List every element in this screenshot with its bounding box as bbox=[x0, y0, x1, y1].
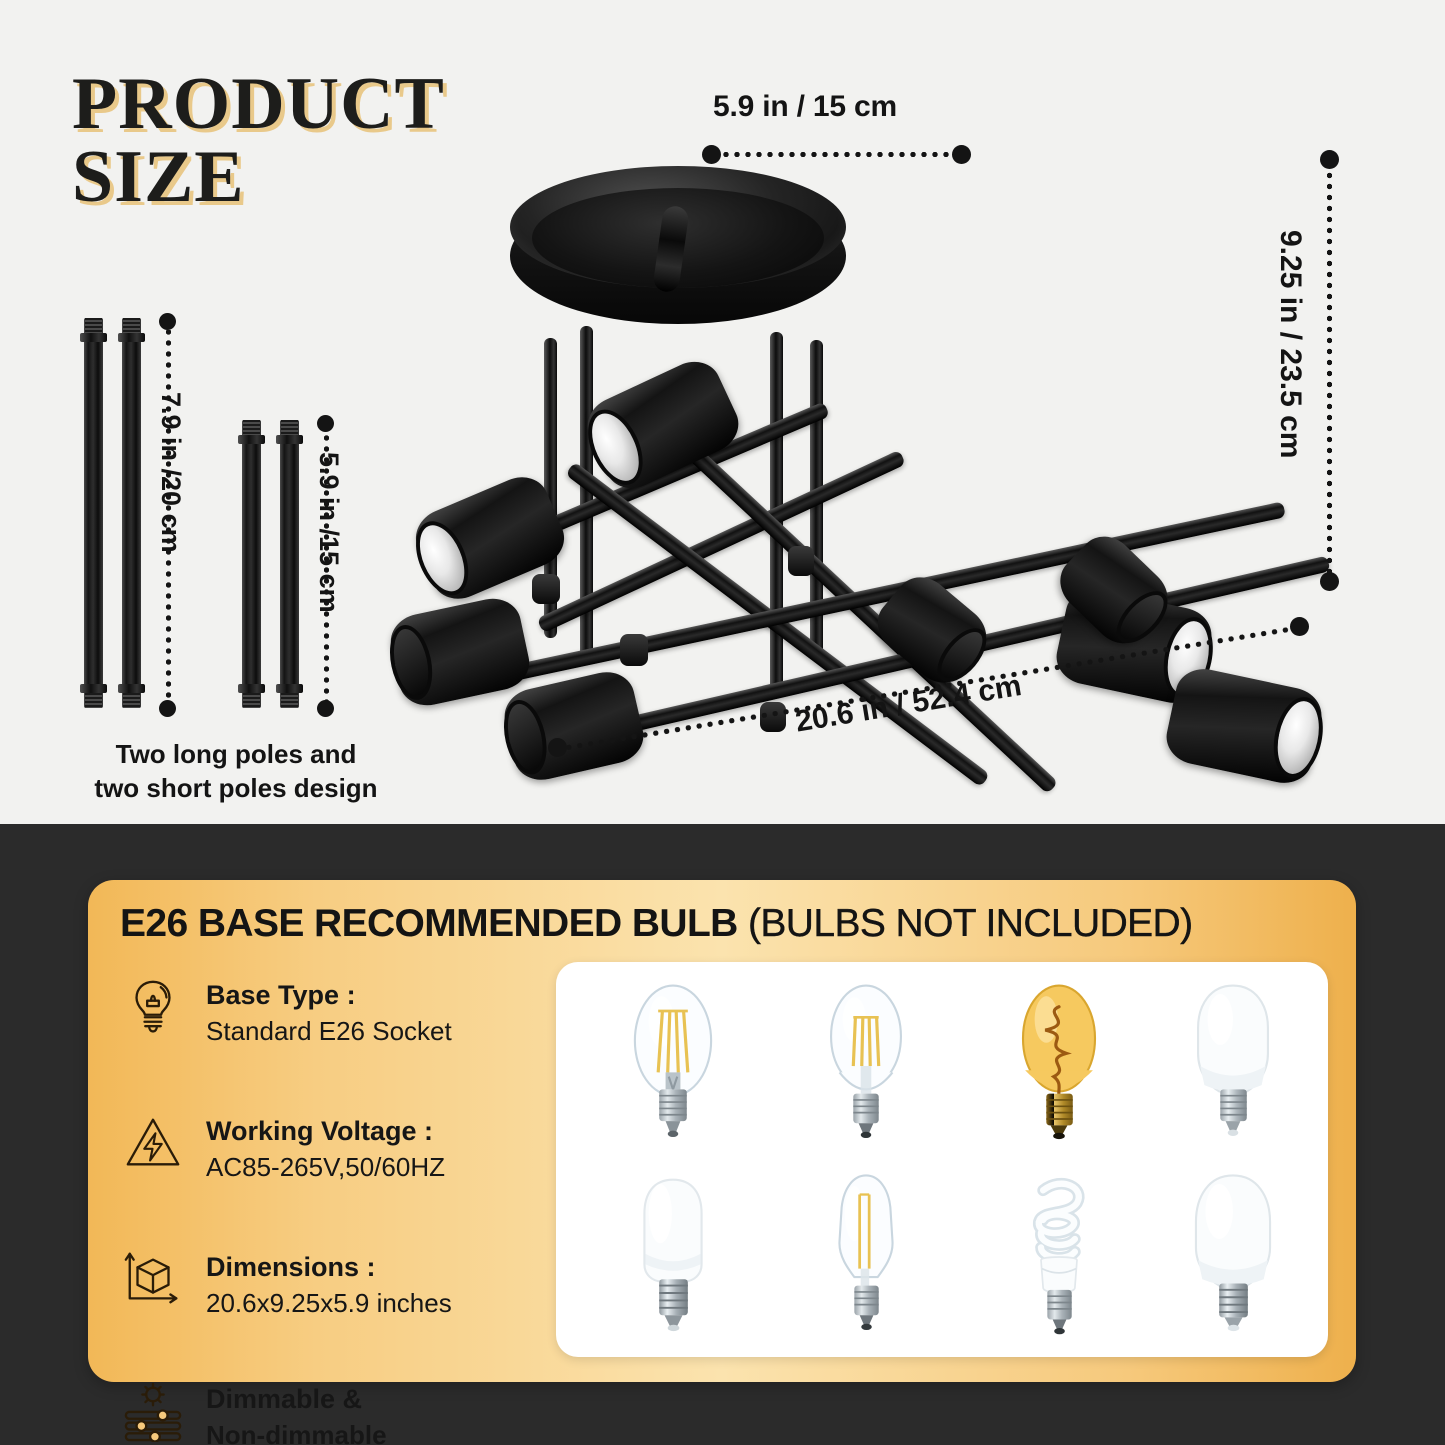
pole-thread-top bbox=[281, 420, 298, 435]
spec-value spec-title: Non-dimmable bbox=[206, 1418, 387, 1445]
height-dimension-dot-top bbox=[1320, 150, 1339, 169]
bulb-cell bbox=[576, 1158, 769, 1355]
pole-shaft bbox=[280, 420, 299, 708]
voltage-icon bbox=[122, 1112, 184, 1174]
bulb-icon bbox=[122, 976, 184, 1038]
spec-value: 20.6x9.25x5.9 inches bbox=[206, 1286, 452, 1320]
bulb-cell bbox=[576, 966, 769, 1163]
dimmer-icon bbox=[122, 1380, 184, 1442]
cube-icon bbox=[122, 1248, 184, 1310]
long-pole-dimension-dot-bottom bbox=[159, 700, 176, 717]
bottom-width-dimension-dot-right bbox=[1290, 617, 1309, 636]
pole-cap-top bbox=[276, 435, 303, 444]
pole-cap-top bbox=[118, 333, 145, 342]
amber-spiral-filament-bulb bbox=[1011, 975, 1107, 1155]
pole-thread-bottom bbox=[85, 693, 102, 708]
short-pole-1 bbox=[242, 420, 261, 708]
spec-title: Base Type : bbox=[206, 978, 452, 1014]
recommended-bulb-section: E26 BASE RECOMMENDED BULB (BULBS NOT INC… bbox=[0, 824, 1445, 1445]
pole-thread-top bbox=[85, 318, 102, 333]
spec-item-base-type: Base Type : Standard E26 Socket bbox=[122, 976, 592, 1048]
spec-text: Base Type : Standard E26 Socket bbox=[206, 976, 452, 1048]
height-dimension-label: 9.25 in / 23.5 cm bbox=[1273, 230, 1307, 458]
top-width-dimension-line bbox=[714, 152, 958, 157]
bulb-cell bbox=[962, 1158, 1155, 1355]
short-pole-2 bbox=[280, 420, 299, 708]
spec-item-working-voltage: Working Voltage : AC85-265V,50/60HZ bbox=[122, 1112, 592, 1184]
spec-title: Working Voltage : bbox=[206, 1114, 445, 1150]
arm-hub-3 bbox=[788, 546, 814, 576]
pole-cap-bottom bbox=[276, 684, 303, 693]
top-width-dimension-label: 5.9 in / 15 cm bbox=[713, 90, 897, 124]
top-width-dimension-dot-left bbox=[702, 145, 721, 164]
pole-cap-bottom bbox=[80, 684, 107, 693]
bulb-types-card bbox=[556, 962, 1328, 1357]
bulb-cell bbox=[1136, 1158, 1329, 1355]
bulb-cell bbox=[962, 966, 1155, 1163]
spec-title: Dimensions : bbox=[206, 1250, 452, 1286]
frosted-tube-led-bulb bbox=[625, 1167, 721, 1347]
frosted-led-a19-bulb bbox=[1185, 975, 1281, 1155]
arm-hub-1 bbox=[532, 574, 560, 604]
pole-thread-bottom bbox=[243, 693, 260, 708]
spec-item-dimensions: Dimensions : 20.6x9.25x5.9 inches bbox=[122, 1248, 592, 1320]
spec-item-dimmable: Dimmable & Non-dimmable bbox=[122, 1380, 592, 1445]
spec-text: Dimmable & Non-dimmable bbox=[206, 1380, 387, 1445]
cfl-spiral-bulb bbox=[1011, 1167, 1107, 1347]
pole-cap-top bbox=[238, 435, 265, 444]
spec-value: AC85-265V,50/60HZ bbox=[206, 1150, 445, 1184]
long-pole-dimension-label: 7.9 in /20 cm bbox=[155, 392, 186, 553]
bottom-width-dimension: 20.6 in / 52.4 cm bbox=[548, 628, 1310, 768]
spec-text: Dimensions : 20.6x9.25x5.9 inches bbox=[206, 1248, 452, 1320]
clear-st64-edison-bulb bbox=[818, 1167, 914, 1347]
poles-caption: Two long poles and two short poles desig… bbox=[66, 738, 406, 806]
height-dimension-line bbox=[1327, 166, 1332, 581]
short-pole-dimension-dot-top bbox=[317, 415, 334, 432]
pole-thread-bottom bbox=[123, 693, 140, 708]
long-pole-2 bbox=[122, 318, 141, 708]
pole-thread-top bbox=[243, 420, 260, 435]
pole-shaft bbox=[84, 318, 103, 708]
bulb-info-panel: E26 BASE RECOMMENDED BULB (BULBS NOT INC… bbox=[88, 880, 1356, 1382]
bulb-cell bbox=[769, 1158, 962, 1355]
bulb-cell bbox=[1136, 966, 1329, 1163]
short-pole-dimension-label: 5.9 in /15 cm bbox=[313, 452, 344, 613]
pole-shaft bbox=[122, 318, 141, 708]
product-size-section: PRODUCT SIZE bbox=[0, 0, 1445, 824]
spec-title: Dimmable & bbox=[206, 1382, 387, 1418]
frosted-round-led-bulb bbox=[1185, 1167, 1281, 1347]
bulb-header-sub: (BULBS NOT INCLUDED) bbox=[738, 902, 1193, 945]
clear-globe-filament-bulb bbox=[818, 975, 914, 1155]
bulb-panel-header: E26 BASE RECOMMENDED BULB (BULBS NOT INC… bbox=[120, 902, 1193, 946]
bottom-width-dimension-label: 20.6 in / 52.4 cm bbox=[793, 669, 1024, 739]
clear-a19-filament-bulb bbox=[625, 975, 721, 1155]
long-pole-1 bbox=[84, 318, 103, 708]
product-infographic: PRODUCT SIZE bbox=[0, 0, 1445, 1445]
bulb-cell bbox=[769, 966, 962, 1163]
pole-shaft bbox=[242, 420, 261, 708]
long-pole-dimension-dot-top bbox=[159, 313, 176, 330]
height-dimension-dot-bottom bbox=[1320, 572, 1339, 591]
bottom-width-dimension-dot-left bbox=[548, 738, 567, 757]
spec-text: Working Voltage : AC85-265V,50/60HZ bbox=[206, 1112, 445, 1184]
pole-thread-top bbox=[123, 318, 140, 333]
bulb-header-main: E26 BASE RECOMMENDED BULB bbox=[120, 902, 738, 945]
pole-cap-top bbox=[80, 333, 107, 342]
spec-value: Standard E26 Socket bbox=[206, 1014, 452, 1048]
short-pole-dimension-dot-bottom bbox=[317, 700, 334, 717]
pole-cap-bottom bbox=[118, 684, 145, 693]
pole-thread-bottom bbox=[281, 693, 298, 708]
pole-cap-bottom bbox=[238, 684, 265, 693]
top-width-dimension-dot-right bbox=[952, 145, 971, 164]
